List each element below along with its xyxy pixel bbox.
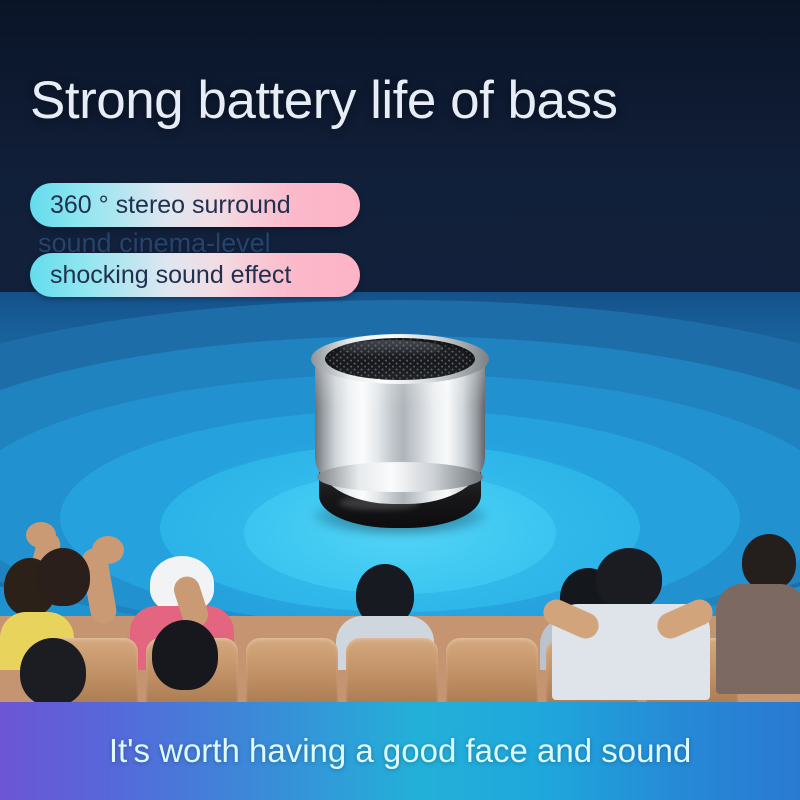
audience-head <box>36 548 90 606</box>
product-poster: Strong battery life of bass sound cinema… <box>0 0 800 800</box>
audience-head <box>152 620 218 690</box>
page-title: Strong battery life of bass <box>30 74 618 127</box>
feature-badge-sound-effect: shocking sound effect <box>30 253 360 297</box>
feature-badge-label: 360 ° stereo surround <box>30 191 291 220</box>
audience-fist <box>26 522 56 548</box>
audience-body <box>716 584 800 694</box>
theater-seat <box>246 638 338 706</box>
bottom-banner-text: It's worth having a good face and sound <box>109 732 691 770</box>
theater-seat <box>446 638 538 706</box>
audience-head <box>20 638 86 706</box>
bottom-banner: It's worth having a good face and sound <box>0 702 800 800</box>
theater-seat <box>346 638 438 706</box>
audience-head <box>596 548 662 610</box>
bluetooth-speaker-product <box>305 320 495 535</box>
speaker-grille-sheen <box>339 340 443 356</box>
audience-head <box>742 534 796 590</box>
feature-badge-stereo: 360 ° stereo surround <box>30 183 360 227</box>
speaker-chrome-ring <box>317 462 483 492</box>
cinema-audience <box>0 520 800 706</box>
audience-fist <box>92 536 124 564</box>
feature-badge-label: shocking sound effect <box>30 261 291 290</box>
